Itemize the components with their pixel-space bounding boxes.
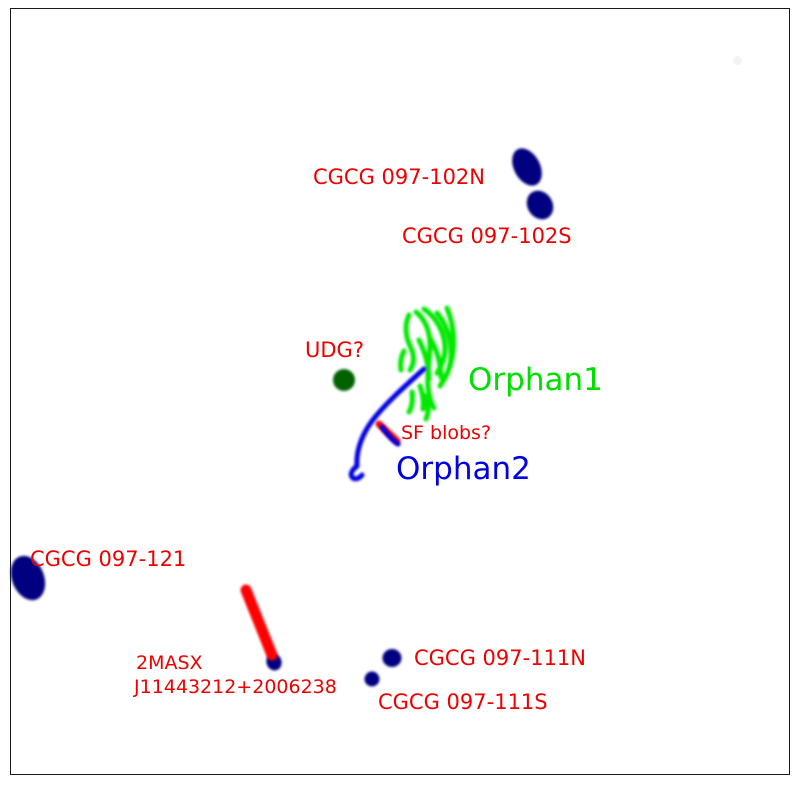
- label-cgcg-097-102n: CGCG 097-102N: [313, 166, 485, 190]
- label-orphan2: Orphan2: [396, 452, 531, 487]
- figure-canvas: CGCG 097-102N CGCG 097-102S UDG? Orphan1…: [0, 0, 807, 791]
- label-sf-blobs: SF blobs?: [401, 423, 491, 444]
- label-cgcg-097-102s: CGCG 097-102S: [402, 225, 572, 249]
- label-udg: UDG?: [305, 339, 364, 363]
- label-orphan1: Orphan1: [468, 363, 603, 398]
- label-2masx-line1: 2MASX: [136, 653, 203, 674]
- label-2masx-line2: J11443212+2006238: [134, 677, 337, 698]
- label-cgcg-097-111n: CGCG 097-111N: [414, 647, 586, 671]
- label-cgcg-097-121: CGCG 097-121: [30, 548, 186, 572]
- faint-artifact-dot-icon: [733, 56, 742, 65]
- image-frame-border: [10, 8, 790, 775]
- label-cgcg-097-111s: CGCG 097-111S: [378, 691, 548, 715]
